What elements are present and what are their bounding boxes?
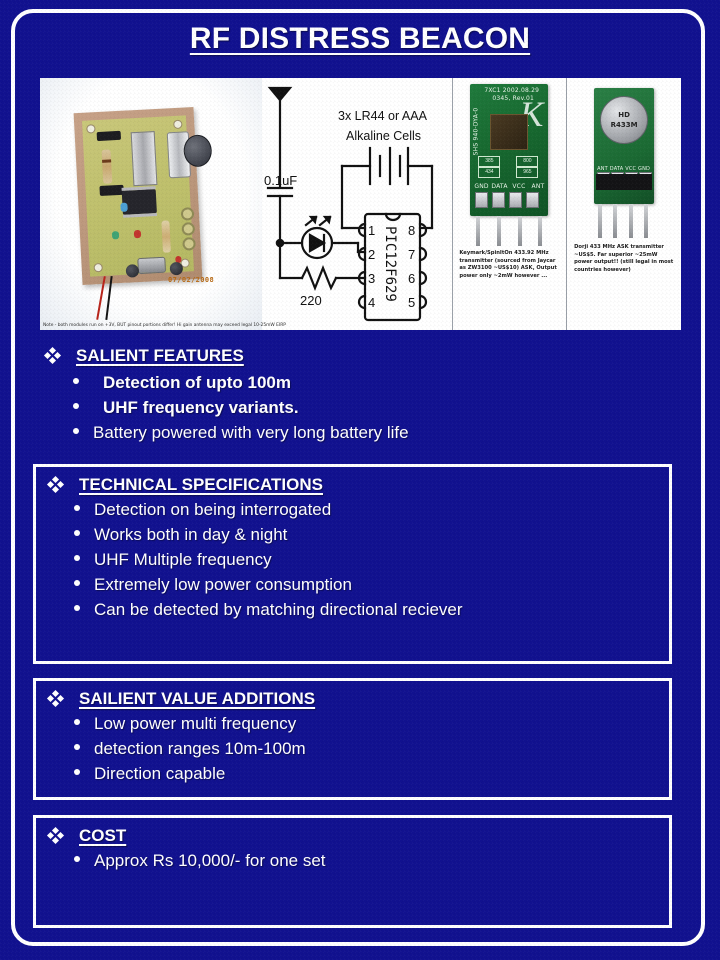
section-heading-label: TECHNICAL SPECIFICATIONS (79, 475, 323, 495)
resistor-label: 220 (300, 293, 322, 308)
bullet-dot-icon (74, 580, 80, 586)
section-value-additions: SAILIENT VALUE ADDITIONS Low power multi… (33, 678, 672, 800)
figure-footnote: Note - both modules run on +3V, BUT pino… (40, 323, 681, 328)
list-item: Low power multi frequency (74, 711, 669, 736)
list-item: UHF frequency variants. (73, 395, 672, 420)
rf-module-right-photo: HDR433M ANT DATA VCC GND Dorji 433 MHz A… (566, 78, 681, 330)
module-right-caption: Dorji 433 MHz ASK transmitter ~US$5. Far… (571, 244, 677, 274)
bullet-dot-icon (74, 505, 80, 511)
section-heading-label: SALIENT FEATURES (76, 346, 244, 366)
battery-label-line1: 3x LR44 or AAA (338, 109, 428, 123)
ic-pin-7-label: 7 (408, 247, 415, 262)
module-can: HDR433M (600, 96, 648, 144)
section-technical-specifications: TECHNICAL SPECIFICATIONS Detection on be… (33, 464, 672, 664)
ic-pin-2-label: 2 (368, 247, 375, 262)
module-side-text: SHS 940-DYA-0 (473, 108, 480, 156)
list-item: Approx Rs 10,000/- for one set (74, 848, 669, 873)
bullet-dot-icon (74, 744, 80, 750)
ic-pin-8-label: 8 (408, 223, 415, 238)
bullet-dot-icon (74, 769, 80, 775)
capacitor-label: 0.1uF (264, 173, 297, 188)
bullet-dot-icon (73, 428, 79, 434)
module-left-caption: Keymark/SpinItOn 433.92 MHz transmitter … (456, 250, 562, 280)
ic-pin-4-label: 4 (368, 295, 375, 310)
module-box-434: 434 (478, 167, 500, 178)
list-item: Extremely low power consumption (74, 572, 669, 597)
ic-part-label: PIC12F629 (382, 226, 398, 302)
ic-pin-1-label: 1 (368, 223, 375, 238)
list-item: Direction capable (74, 761, 669, 786)
list-item: detection ranges 10m-100m (74, 736, 669, 761)
circuit-schematic: 1 2 3 4 8 7 6 5 PIC12F629 0.1uF 220 3x L… (262, 78, 452, 330)
battery-label-line2: Alkaline Cells (346, 129, 421, 143)
diamond-bullet-icon (48, 828, 63, 843)
bullet-dot-icon (74, 605, 80, 611)
module-box-385: 385 (478, 156, 500, 167)
module-box-965: 965 (516, 167, 538, 178)
section-heading-salient-features: SALIENT FEATURES (33, 338, 672, 366)
list-item: Detection on being interrogated (74, 497, 669, 522)
rf-module-left-photo: 7XC1 2002.08.29 0345, Rev.01 SHS 940-DYA… (452, 78, 567, 330)
bullet-list-cost: Approx Rs 10,000/- for one set (36, 846, 669, 873)
section-heading-label: COST (79, 826, 126, 846)
ic-pin-3-label: 3 (368, 271, 375, 286)
diamond-bullet-icon (48, 691, 63, 706)
pcb-date-stamp: 07/02/2008 (168, 276, 214, 284)
list-item: Battery powered with very long battery l… (73, 420, 672, 445)
section-salient-features: SALIENT FEATURES Detection of upto 100m … (33, 338, 672, 445)
section-cost: COST Approx Rs 10,000/- for one set (33, 815, 672, 928)
figure-strip: 07/02/2008 (40, 78, 681, 330)
bullet-dot-icon (74, 555, 80, 561)
bullet-dot-icon (73, 403, 79, 409)
bullet-dot-icon (74, 719, 80, 725)
list-item: Works both in day & night (74, 522, 669, 547)
list-item: Can be detected by matching directional … (74, 597, 669, 622)
diamond-bullet-icon (48, 477, 63, 492)
list-item: UHF Multiple frequency (74, 547, 669, 572)
bullet-dot-icon (74, 856, 80, 862)
ic-pin-6-label: 6 (408, 271, 415, 286)
module-silkscreen-top: 7XC1 2002.08.29 (484, 87, 539, 94)
section-heading-technical-specifications: TECHNICAL SPECIFICATIONS (36, 467, 669, 495)
section-heading-cost: COST (36, 818, 669, 846)
ic-pin-5-label: 5 (408, 295, 415, 310)
bullet-list-technical-specifications: Detection on being interrogated Works bo… (36, 495, 669, 622)
section-heading-label: SAILIENT VALUE ADDITIONS (79, 689, 315, 709)
list-item: Detection of upto 100m (73, 370, 672, 395)
page-title: RF DISTRESS BEACON (40, 22, 680, 56)
diamond-bullet-icon (45, 348, 60, 363)
pcb-photo: 07/02/2008 (40, 78, 262, 330)
bullet-list-salient-features: Detection of upto 100m UHF frequency var… (33, 366, 672, 445)
module-box-800: 800 (516, 156, 538, 167)
bullet-dot-icon (73, 378, 79, 384)
bullet-list-value-additions: Low power multi frequency detection rang… (36, 709, 669, 786)
section-heading-value-additions: SAILIENT VALUE ADDITIONS (36, 681, 669, 709)
bullet-dot-icon (74, 530, 80, 536)
